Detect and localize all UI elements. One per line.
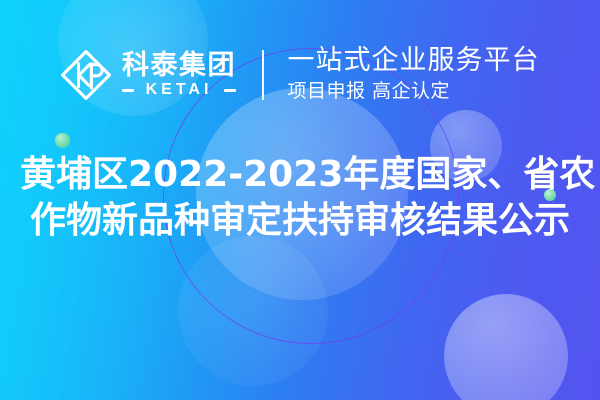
decorative-circle-lower-left — [178, 236, 328, 386]
brand-name-en-row: KETAI — [122, 82, 236, 98]
promo-banner: 科泰集团 KETAI 一站式企业服务平台 项目申报 高企认定 黄埔区2022-2… — [0, 0, 600, 400]
decorative-circle-bottom-right — [444, 294, 568, 400]
ketai-diamond-kp-logo-icon — [58, 47, 114, 103]
brand-tagline: 一站式企业服务平台 项目申报 高企认定 — [288, 45, 540, 105]
banner-title-line-1: 黄埔区2022-2023年度国家、省农 — [20, 152, 580, 198]
wordmark-rule-right-icon — [224, 89, 236, 92]
brand-name-en: KETAI — [139, 82, 219, 98]
header-divider — [262, 50, 264, 100]
tagline-secondary: 项目申报 高企认定 — [288, 79, 540, 105]
brand-logo[interactable]: 科泰集团 KETAI — [58, 47, 236, 103]
brand-name-cn: 科泰集团 — [122, 52, 236, 79]
banner-title-line-2: 作物新品种审定扶持审核结果公示 — [20, 198, 580, 244]
decorative-dot-green-left — [55, 133, 70, 148]
wordmark-rule-left-icon — [122, 89, 134, 92]
tagline-primary: 一站式企业服务平台 — [288, 45, 540, 76]
brand-wordmark: 科泰集团 KETAI — [122, 52, 236, 98]
banner-header: 科泰集团 KETAI 一站式企业服务平台 项目申报 高企认定 — [0, 32, 600, 118]
banner-title: 黄埔区2022-2023年度国家、省农 作物新品种审定扶持审核结果公示 — [0, 152, 600, 244]
